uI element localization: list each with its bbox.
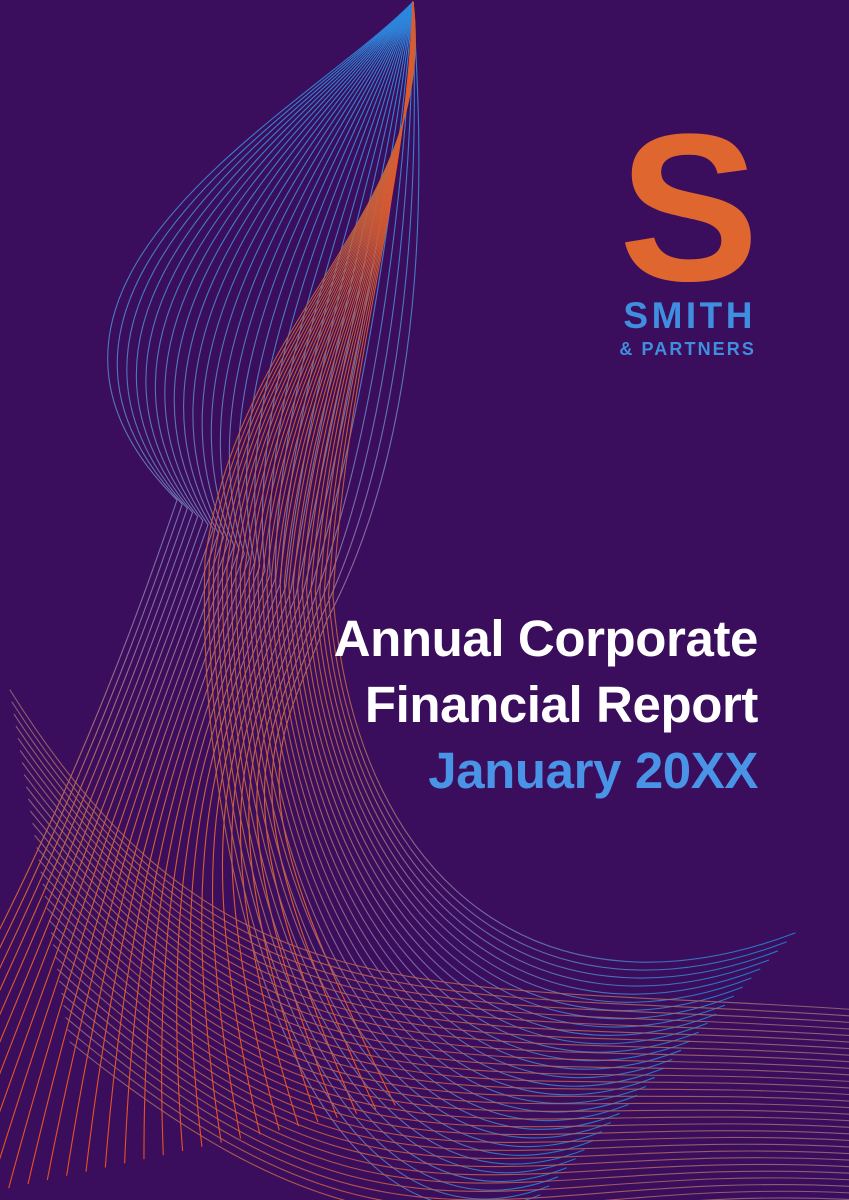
report-cover-page: S SMITH & PARTNERS Annual Corporate Fina… (0, 0, 849, 1200)
title-line-1: Annual Corporate (118, 606, 758, 672)
title-line-2: Financial Report (118, 672, 758, 738)
logo-mark-letter-s: S (437, 132, 757, 284)
logo-company-subtitle: & PARTNERS (437, 340, 757, 358)
brand-logo: S SMITH & PARTNERS (437, 132, 757, 358)
logo-company-name: SMITH (437, 297, 757, 334)
title-date: January 20XX (118, 738, 758, 804)
cover-title-block: Annual Corporate Financial Report Januar… (118, 606, 758, 804)
